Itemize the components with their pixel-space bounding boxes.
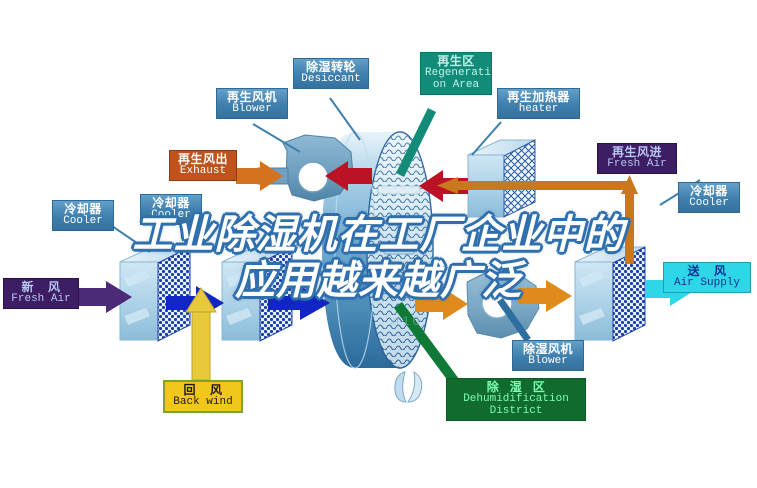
arrow-exhaust bbox=[236, 161, 283, 191]
diagram-canvas: xf 1 0 除湿转轮 Desiccant 再生风机 Blower 再生区 Re… bbox=[0, 0, 757, 488]
label-cooler-right-cn: 冷却器 bbox=[683, 185, 735, 198]
label-regeneration-heater-cn: 再生加热器 bbox=[502, 91, 575, 104]
headline-line-2: 应用越来越广泛 bbox=[0, 258, 757, 304]
label-dehum-blower-cn: 除湿风机 bbox=[517, 343, 579, 356]
label-regeneration-heater[interactable]: 再生加热器 heater bbox=[497, 88, 580, 119]
label-dehumidification-district-cn: 除 湿 区 bbox=[451, 381, 581, 394]
label-regen-blower-cn: 再生风机 bbox=[221, 91, 283, 104]
headline-overlay: 工业除湿机在工厂企业中的 应用越来越广泛 bbox=[0, 212, 757, 304]
label-desiccant-en: Desiccant bbox=[298, 74, 364, 86]
watermark-text: xf 1 0 bbox=[390, 314, 420, 328]
label-desiccant-cn: 除湿转轮 bbox=[298, 61, 364, 74]
headline-line-1: 工业除湿机在工厂企业中的 bbox=[0, 212, 757, 258]
label-cooler-middle-cn: 冷却器 bbox=[145, 197, 197, 210]
label-dehum-blower[interactable]: 除湿风机 Blower bbox=[512, 340, 584, 371]
label-back-wind-cn: 回 风 bbox=[169, 384, 237, 397]
label-exhaust-cn: 再生风出 bbox=[174, 153, 232, 166]
label-regen-blower[interactable]: 再生风机 Blower bbox=[216, 88, 288, 119]
label-cooler-right-en: Cooler bbox=[683, 198, 735, 210]
label-regen-fresh-air-en: Fresh Air bbox=[602, 159, 672, 171]
label-regen-fresh-air-cn: 再生风进 bbox=[602, 146, 672, 159]
label-desiccant[interactable]: 除湿转轮 Desiccant bbox=[293, 58, 369, 89]
label-dehum-blower-en: Blower bbox=[517, 356, 579, 368]
label-dehumidification-district-en: Dehumidification District bbox=[451, 394, 581, 418]
label-cooler-right[interactable]: 冷却器 Cooler bbox=[678, 182, 740, 213]
label-regeneration-area[interactable]: 再生区 Regenerati on Area bbox=[420, 52, 492, 95]
label-exhaust[interactable]: 再生风出 Exhaust bbox=[169, 150, 237, 181]
label-dehumidification-district[interactable]: 除 湿 区 Dehumidification District bbox=[446, 378, 586, 421]
label-back-wind[interactable]: 回 风 Back wind bbox=[163, 380, 243, 413]
label-regen-blower-en: Blower bbox=[221, 104, 283, 116]
label-regeneration-heater-en: heater bbox=[502, 104, 575, 116]
regeneration-heater bbox=[468, 140, 535, 217]
label-regeneration-area-cn: 再生区 bbox=[425, 55, 487, 68]
label-exhaust-en: Exhaust bbox=[174, 166, 232, 178]
label-back-wind-en: Back wind bbox=[169, 397, 237, 409]
label-regen-fresh-air[interactable]: 再生风进 Fresh Air bbox=[597, 143, 677, 174]
label-regeneration-area-en: Regenerati on Area bbox=[425, 68, 487, 92]
